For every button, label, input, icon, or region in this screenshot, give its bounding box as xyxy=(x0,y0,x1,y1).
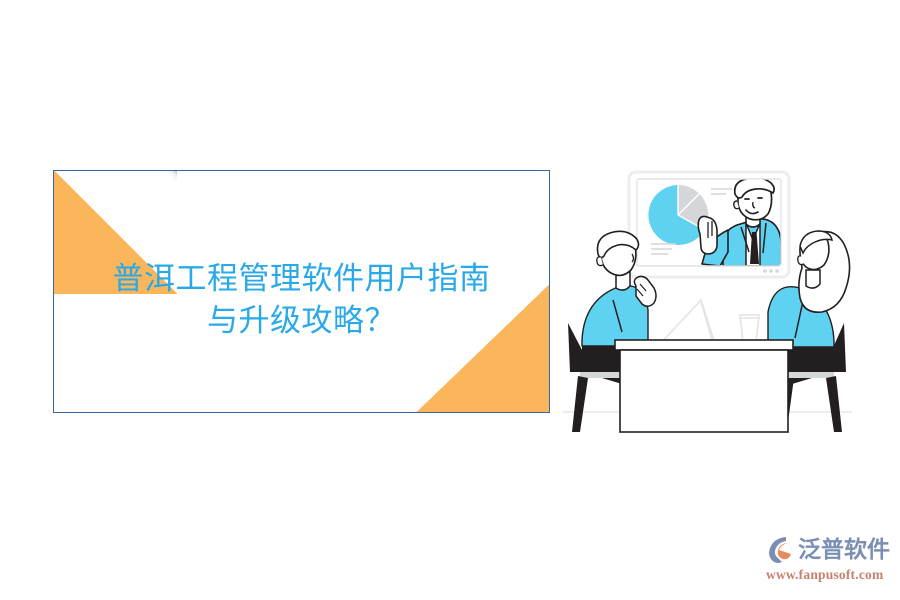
fanpu-logo-mark-icon xyxy=(766,534,796,564)
brand-url-text: www.fanpusoft.com xyxy=(766,567,896,583)
corner-triangle-bottom-right xyxy=(417,285,549,412)
brand-name-text: 泛普软件 xyxy=(798,534,890,564)
page-title-line-2: 与升级攻略？ xyxy=(207,300,396,342)
screen-indicator-dots xyxy=(763,269,779,273)
pie-chart xyxy=(648,185,708,245)
desk xyxy=(615,340,793,432)
wall-display-screen xyxy=(629,172,789,277)
brand-logo: 泛普软件 www.fanpusoft.com xyxy=(766,532,896,590)
video-conference-illustration xyxy=(560,160,880,460)
title-card: 普洱工程管理软件用户指南 与升级攻略？ xyxy=(53,170,550,413)
logo-name-row: 泛普软件 xyxy=(766,532,896,566)
corner-triangle-top-left xyxy=(54,171,177,294)
slide-canvas: 普洱工程管理软件用户指南 与升级攻略？ xyxy=(0,0,900,600)
